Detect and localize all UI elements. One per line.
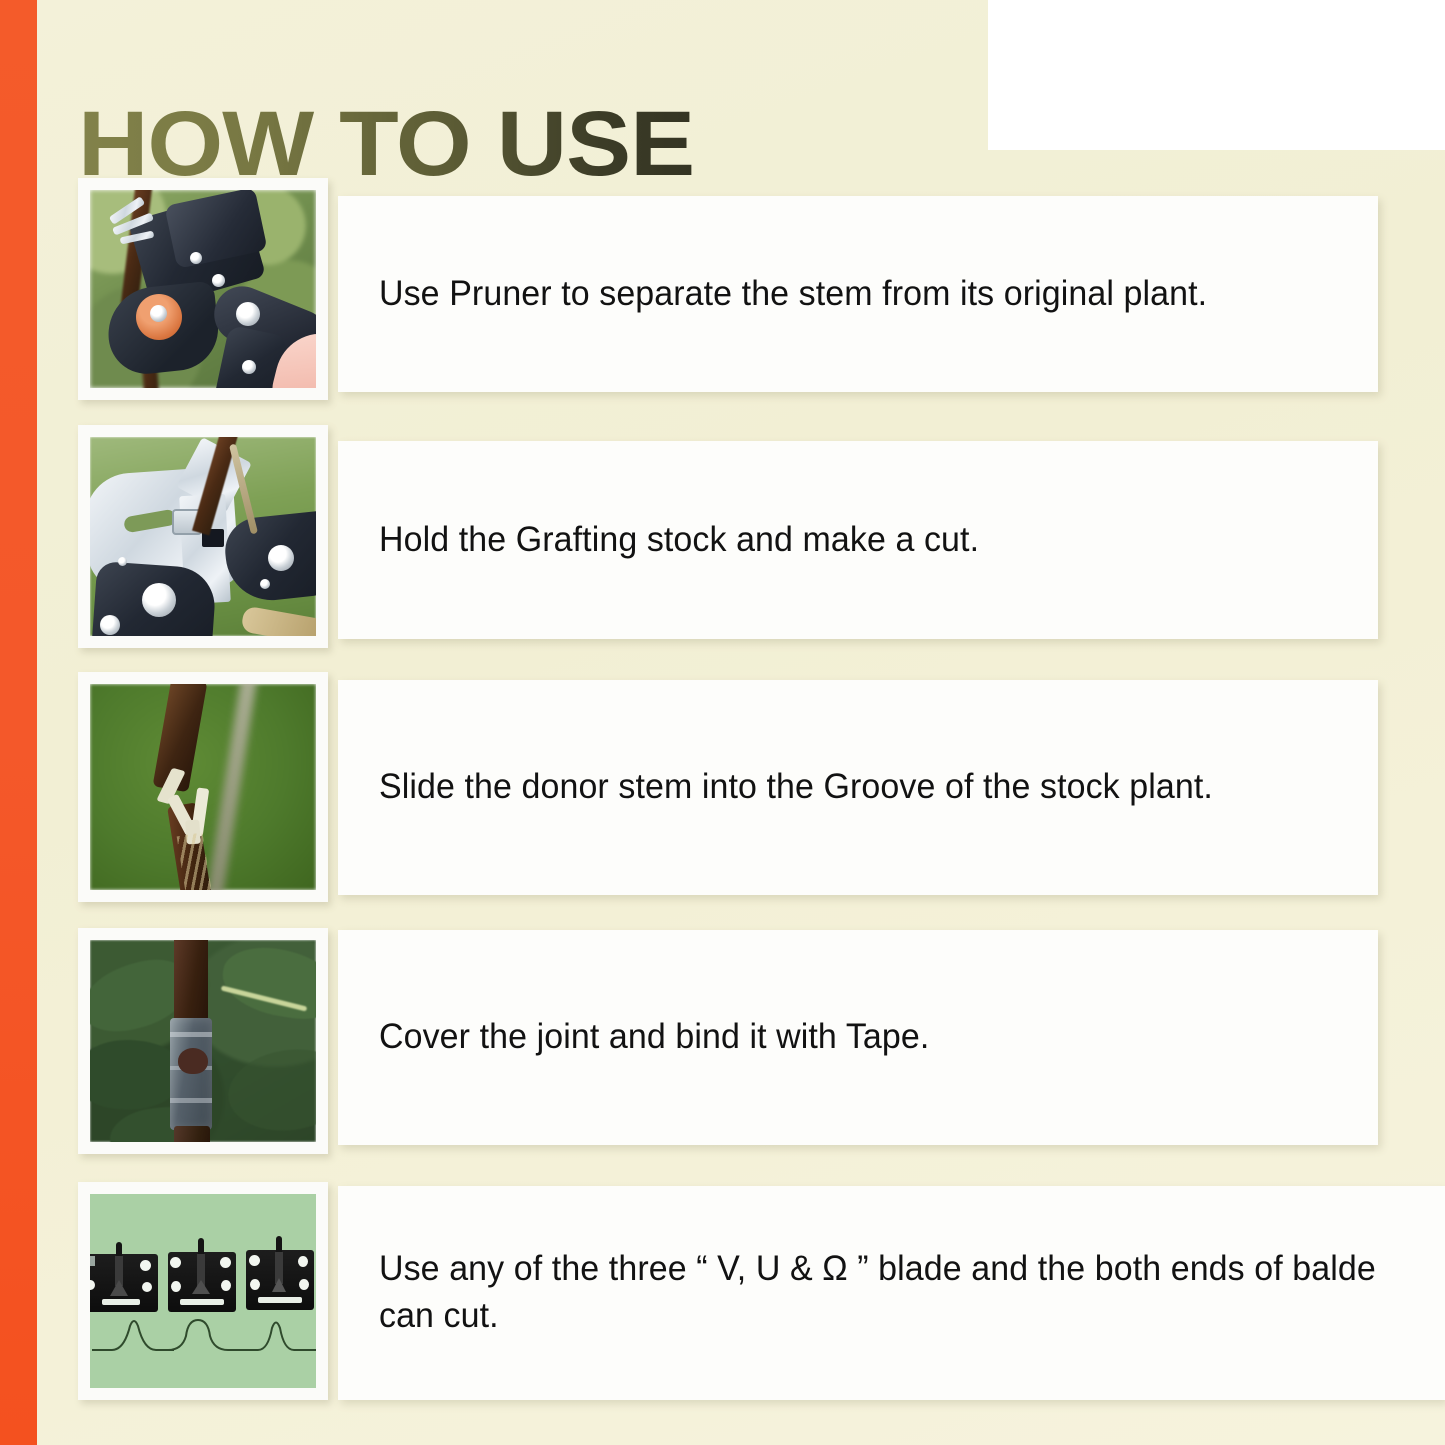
- step-4-photo-frame: [78, 928, 328, 1154]
- infographic-page: HOW TO USE: [0, 0, 1445, 1445]
- step-3-text-panel: Slide the donor stem into the Groove of …: [338, 680, 1378, 895]
- pruner-cutting-stem-photo: [90, 190, 316, 388]
- step-2-text-panel: Hold the Grafting stock and make a cut.: [338, 441, 1378, 639]
- top-right-white-block: [988, 0, 1445, 150]
- step-1-text-panel: Use Pruner to separate the stem from its…: [338, 196, 1378, 392]
- step-4-text-panel: Cover the joint and bind it with Tape.: [338, 930, 1378, 1145]
- step-2-text: Hold the Grafting stock and make a cut.: [379, 517, 979, 564]
- left-accent-bar: [0, 0, 37, 1445]
- step-2-photo-frame: [78, 425, 328, 648]
- grafting-tool-cut-photo: [90, 437, 316, 636]
- step-5-photo-frame: [78, 1182, 328, 1400]
- step-1-text: Use Pruner to separate the stem from its…: [379, 271, 1207, 318]
- step-4-text: Cover the joint and bind it with Tape.: [379, 1014, 929, 1061]
- step-1-photo-frame: [78, 178, 328, 400]
- step-5-text-panel: Use any of the three “ V, U & Ω ” blade …: [338, 1186, 1445, 1400]
- blade-profile-curves-icon: [90, 1314, 316, 1360]
- taped-joint-photo: [90, 940, 316, 1142]
- step-3-photo-frame: [78, 672, 328, 902]
- three-blades-photo: [90, 1194, 316, 1388]
- step-3-text: Slide the donor stem into the Groove of …: [379, 764, 1213, 811]
- page-title: HOW TO USE: [78, 98, 694, 190]
- stem-groove-photo: [90, 684, 316, 890]
- step-5-text: Use any of the three “ V, U & Ω ” blade …: [379, 1246, 1384, 1339]
